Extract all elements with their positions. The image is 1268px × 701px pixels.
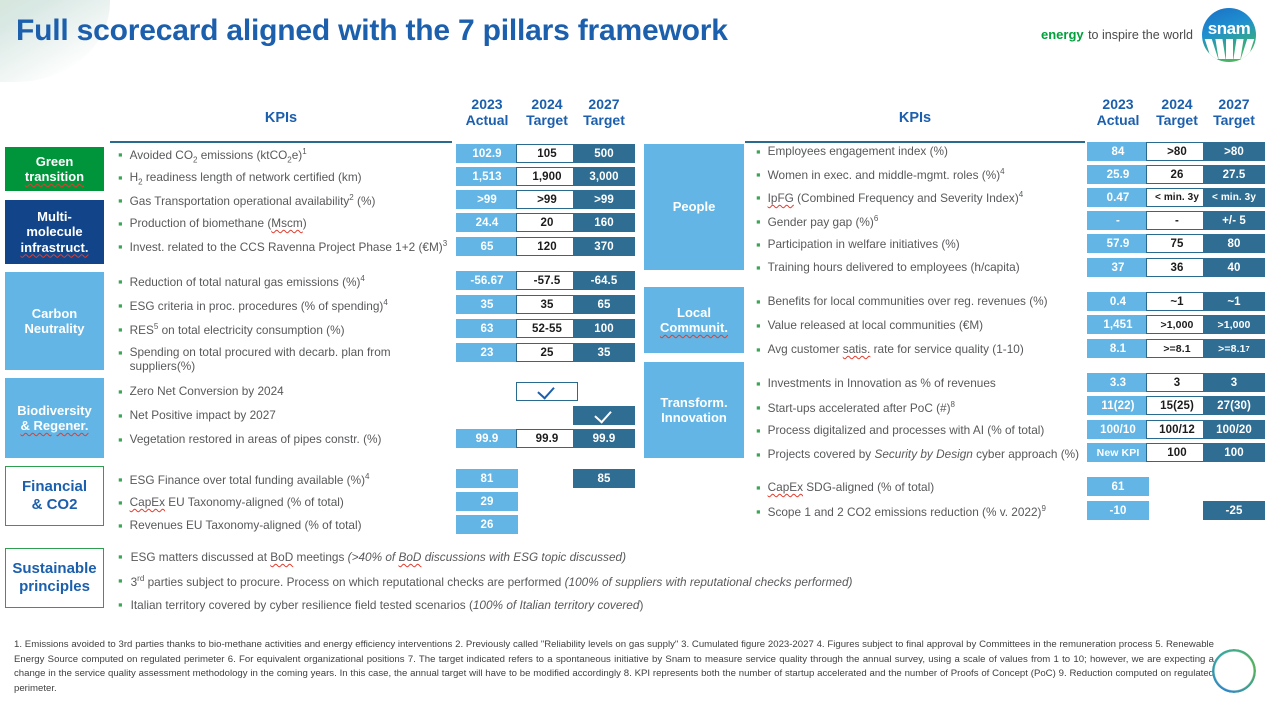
value-cell-target2024[interactable]: ~1 [1146,292,1208,311]
value-cell-target2027[interactable]: 40 [1203,258,1265,277]
brand-claim-line1: energy [1041,27,1084,42]
kpi-row-label: ▪Spending on total procured with decarb.… [118,345,418,374]
pillar-financial-co2[interactable]: Financial& CO2 [5,466,104,526]
value-cell-target2027[interactable]: 27(30) [1203,396,1265,415]
value-cell-target2027[interactable]: 100/20 [1203,420,1265,439]
pillar-biodiversity[interactable]: Biodiversity& Regener. [5,378,104,458]
kpi-row-label: ▪Invest. related to the CCS Ravenna Proj… [118,239,458,254]
value-cell-actual[interactable]: 37 [1087,258,1149,277]
value-cell-actual[interactable]: 24.4 [456,213,518,232]
right-kpi-rule [745,141,1085,143]
logo-wordmark: snam [1202,19,1256,39]
value-cell-actual[interactable]: 35 [456,295,518,314]
value-cell-actual[interactable]: 25.9 [1087,165,1149,184]
kpi-row-label: ▪Scope 1 and 2 CO2 emissions reduction (… [756,504,1096,519]
pillar-transform-innovation[interactable]: Transform.Innovation [644,362,744,458]
value-cell-target2027[interactable]: 370 [573,237,635,256]
value-cell-actual[interactable]: 100/10 [1087,420,1149,439]
value-cell-actual[interactable]: -10 [1087,501,1149,520]
kpi-row-label: ▪Avoided CO2 emissions (ktCO2e)1 [118,147,448,165]
value-cell-target2024[interactable]: >99 [516,190,578,209]
value-cell-actual[interactable]: 26 [456,515,518,534]
sustainable-row: ▪ESG matters discussed at BoD meetings (… [118,550,918,564]
kpi-row-label: ▪Avg customer satis. rate for service qu… [756,342,1096,356]
right-col-2027: 2027Target [1203,96,1265,128]
right-kpi-title: KPIs [745,110,1085,126]
sustainable-row: ▪3rd parties subject to procure. Process… [118,574,1018,589]
value-cell-actual[interactable]: -56.67 [456,271,518,290]
value-cell-actual[interactable]: 29 [456,492,518,511]
value-cell-actual[interactable]: 23 [456,343,518,362]
right-scorecard-panel: KPIs 2023Actual 2024Target 2027Target Pe… [0,96,1268,143]
value-cell-actual[interactable]: 84 [1087,142,1149,161]
pillar-green-transition[interactable]: Greentransition [5,147,104,191]
value-cell-target2024[interactable]: 99.9 [516,429,578,448]
kpi-row-label: ▪Gas Transportation operational availabi… [118,193,448,208]
kpi-row-label: ▪Revenues EU Taxonomy-aligned (% of tota… [118,518,448,532]
kpi-row-label: ▪Employees engagement index (%) [756,144,1086,158]
kpi-row-label: ▪Women in exec. and middle-mgmt. roles (… [756,167,1086,182]
page-title: Full scorecard aligned with the 7 pillar… [16,14,728,48]
value-cell-target2024[interactable]: 52-55 [516,319,578,338]
value-cell-target2027[interactable]: 80 [1203,234,1265,253]
right-kpi-header: KPIs 2023Actual 2024Target 2027Target [0,96,1268,143]
right-col-2024: 2024Target [1146,96,1208,128]
kpi-row-label: ▪CapEx SDG-aligned (% of total) [756,480,1086,494]
value-cell-target2027[interactable]: 160 [573,213,635,232]
decorative-ring [1212,649,1256,693]
value-cell-actual[interactable]: 81 [456,469,518,488]
pillar-people[interactable]: People [644,144,744,270]
value-cell-actual[interactable]: 8.1 [1087,339,1149,358]
kpi-row-label: ▪Zero Net Conversion by 2024 [118,384,448,398]
value-cell-actual[interactable]: 1,451 [1087,315,1149,334]
value-cell-target2024[interactable]: 3 [1146,373,1208,392]
value-cell-target2027[interactable]: 500 [573,144,635,163]
value-cell-actual[interactable]: 102.9 [456,144,518,163]
value-cell-target2024[interactable]: 20 [516,213,578,232]
kpi-row-label: ▪Vegetation restored in areas of pipes c… [118,432,448,446]
pillar-multi-molecule[interactable]: Multi-moleculeinfrastruct. [5,200,104,264]
kpi-row-label: ▪Projects covered by Security by Design … [756,447,1101,461]
value-cell-target2027[interactable]: 100 [1203,443,1265,462]
value-cell-target2027[interactable]: >99 [573,190,635,209]
value-cell-actual[interactable]: 1,513 [456,167,518,186]
value-cell-actual[interactable]: 0.47 [1087,188,1149,207]
kpi-row-label: ▪IpFG (Combined Frequency and Severity I… [756,190,1096,205]
brand-claim: energy to inspire the world [1041,26,1193,45]
value-cell-actual[interactable]: 0.4 [1087,292,1149,311]
kpi-row-label: ▪Training hours delivered to employees (… [756,260,1086,274]
value-cell-actual[interactable]: >99 [456,190,518,209]
value-cell-target2027[interactable]: >=8.17 [1203,339,1265,358]
value-cell-target2024[interactable]: >80 [1146,142,1208,161]
value-cell-target2027[interactable]: < min. 3y [1203,188,1265,207]
value-cell-target2027[interactable]: 100 [573,319,635,338]
value-cell-target2027[interactable]: ~1 [1203,292,1265,311]
value-cell-actual[interactable]: 61 [1087,477,1149,496]
value-cell-target2027[interactable]: -25 [1203,501,1265,520]
value-cell-target2024[interactable]: 35 [516,295,578,314]
value-cell-target2024[interactable]: >1,000 [1146,315,1208,334]
kpi-row-label: ▪Benefits for local communities over reg… [756,294,1096,308]
value-cell-target2027[interactable]: >80 [1203,142,1265,161]
kpi-row-label: ▪RES5 on total electricity consumption (… [118,322,448,337]
value-cell-target2024[interactable]: 75 [1146,234,1208,253]
value-cell-target2027[interactable]: >1,000 [1203,315,1265,334]
kpi-row-label: ▪ESG criteria in proc. procedures (% of … [118,298,448,313]
kpi-row-label: ▪Process digitalized and processes with … [756,423,1096,437]
kpi-row-label: ▪Value released at local communities (€M… [756,318,1086,332]
check-icon [537,381,554,399]
snam-logo-icon: snam [1202,8,1256,62]
value-cell-target2027-check[interactable] [573,406,635,425]
value-cell-target2024[interactable]: 100 [1146,443,1208,462]
kpi-row-label: ▪Net Positive impact by 2027 [118,408,448,422]
value-cell-target2027[interactable]: 99.9 [573,429,635,448]
footnotes: 1. Emissions avoided to 3rd parties than… [14,638,1214,696]
value-cell-actual[interactable]: 3.3 [1087,373,1149,392]
value-cell-target2027[interactable]: 65 [573,295,635,314]
kpi-row-label: ▪H2 readiness length of network certifie… [118,170,448,187]
brand-logo: energy to inspire the world snam [1041,8,1256,62]
brand-claim-line2: to inspire the world [1088,28,1193,42]
pillar-carbon-neutrality[interactable]: CarbonNeutrality [5,272,104,370]
kpi-row-label: ▪Gender pay gap (%)6 [756,214,1086,229]
value-cell-target2027[interactable]: 35 [573,343,635,362]
logo-rays [1202,39,1256,59]
value-cell-actual[interactable]: New KPI [1087,443,1149,462]
value-cell-target2024[interactable]: - [1146,211,1208,230]
value-cell-target2024[interactable]: 1,900 [516,167,578,186]
value-cell-actual[interactable]: 63 [456,319,518,338]
value-cell-target2024[interactable]: 26 [1146,165,1208,184]
kpi-row-label: ▪Investments in Innovation as % of reven… [756,376,1086,390]
value-cell-target2024[interactable]: 100/12 [1146,420,1208,439]
kpi-row-label: ▪Production of biomethane (Mscm) [118,216,448,230]
sustainable-row: ▪Italian territory covered by cyber resi… [118,598,918,612]
kpi-row-label: ▪Reduction of total natural gas emission… [118,274,448,289]
value-cell-target2024[interactable]: >=8.1 [1146,339,1208,358]
kpi-row-label: ▪Start-ups accelerated after PoC (#)8 [756,400,1086,415]
value-cell-actual[interactable]: 11(22) [1087,396,1149,415]
kpi-row-label: ▪CapEx EU Taxonomy-aligned (% of total) [118,495,448,509]
pillar-local-communities[interactable]: LocalCommunit. [644,287,744,353]
value-cell-target2024[interactable]: 120 [516,237,578,256]
value-cell-target2027[interactable]: 3 [1203,373,1265,392]
value-cell-target2024[interactable]: 15(25) [1146,396,1208,415]
value-cell-target2024[interactable]: 25 [516,343,578,362]
value-cell-target2027[interactable]: 85 [573,469,635,488]
value-cell-target2027[interactable]: 3,000 [573,167,635,186]
value-cell-actual[interactable]: 57.9 [1087,234,1149,253]
check-icon [594,405,611,423]
value-cell-target2027[interactable]: -64.5 [573,271,635,290]
value-cell-target2024[interactable]: 105 [516,144,578,163]
kpi-row-label: ▪ESG Finance over total funding availabl… [118,472,448,487]
value-cell-target2027[interactable]: +/- 5 [1203,211,1265,230]
value-cell-target2024[interactable]: 36 [1146,258,1208,277]
value-cell-target2027[interactable]: 27.5 [1203,165,1265,184]
value-cell-target2024[interactable]: -57.5 [516,271,578,290]
value-cell-target2024[interactable]: < min. 3y [1146,188,1208,207]
right-col-2023: 2023Actual [1087,96,1149,128]
value-cell-target2024-check[interactable] [516,382,578,401]
pillar-sustainable-principles[interactable]: Sustainableprinciples [5,548,104,608]
value-cell-actual[interactable]: 99.9 [456,429,518,448]
value-cell-actual[interactable]: 65 [456,237,518,256]
value-cell-actual[interactable]: - [1087,211,1149,230]
kpi-row-label: ▪Participation in welfare initiatives (%… [756,237,1086,251]
